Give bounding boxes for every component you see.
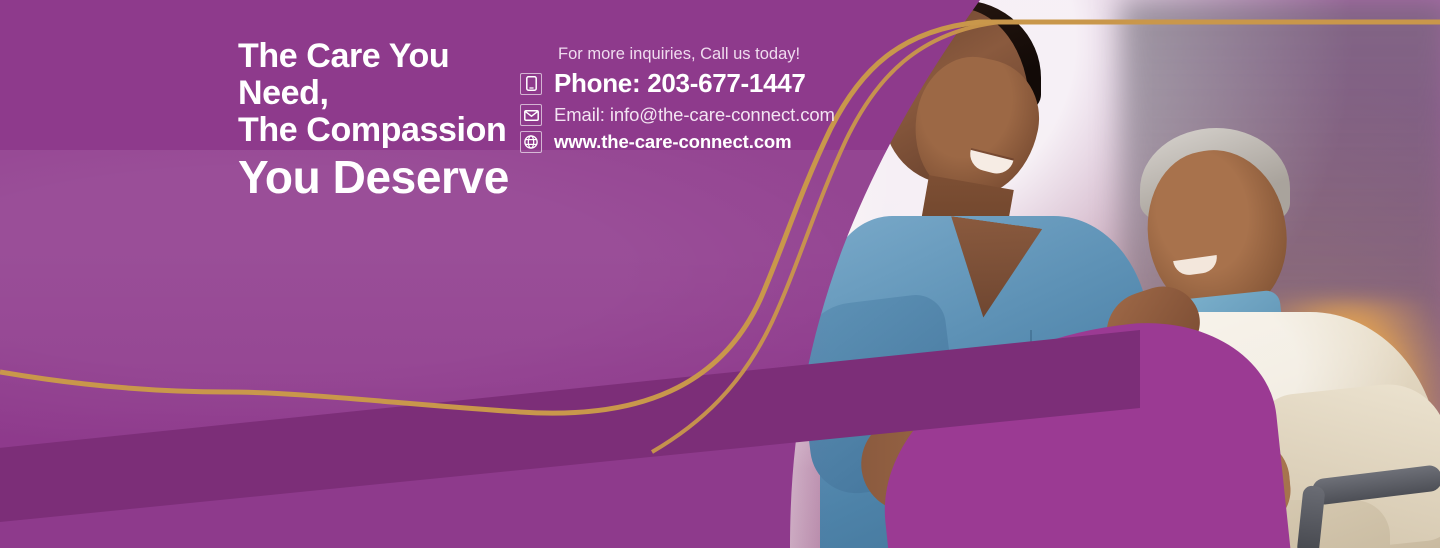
contact-row-phone[interactable]: Phone: 203-677-1447 bbox=[520, 68, 900, 99]
mobile-phone-icon bbox=[520, 73, 542, 95]
contact-lead-text: For more inquiries, Call us today! bbox=[558, 44, 900, 64]
email-address-text: Email: info@the-care-connect.com bbox=[554, 104, 835, 126]
phone-number-text: Phone: 203-677-1447 bbox=[554, 68, 806, 99]
contact-block: For more inquiries, Call us today! Phone… bbox=[520, 44, 900, 158]
headline-line-2: The Compassion bbox=[238, 112, 518, 149]
headline-line-3: You Deserve bbox=[238, 151, 518, 203]
contact-row-website[interactable]: www.the-care-connect.com bbox=[520, 131, 900, 153]
page-title: The Care You Need, The Compassion You De… bbox=[238, 38, 518, 203]
contact-row-email[interactable]: Email: info@the-care-connect.com bbox=[520, 104, 900, 126]
headline-line-1: The Care You Need, bbox=[238, 38, 518, 112]
envelope-icon bbox=[520, 104, 542, 126]
globe-icon bbox=[520, 131, 542, 153]
care-connect-banner: The Care You Need, The Compassion You De… bbox=[0, 0, 1440, 548]
website-url-text: www.the-care-connect.com bbox=[554, 131, 791, 153]
